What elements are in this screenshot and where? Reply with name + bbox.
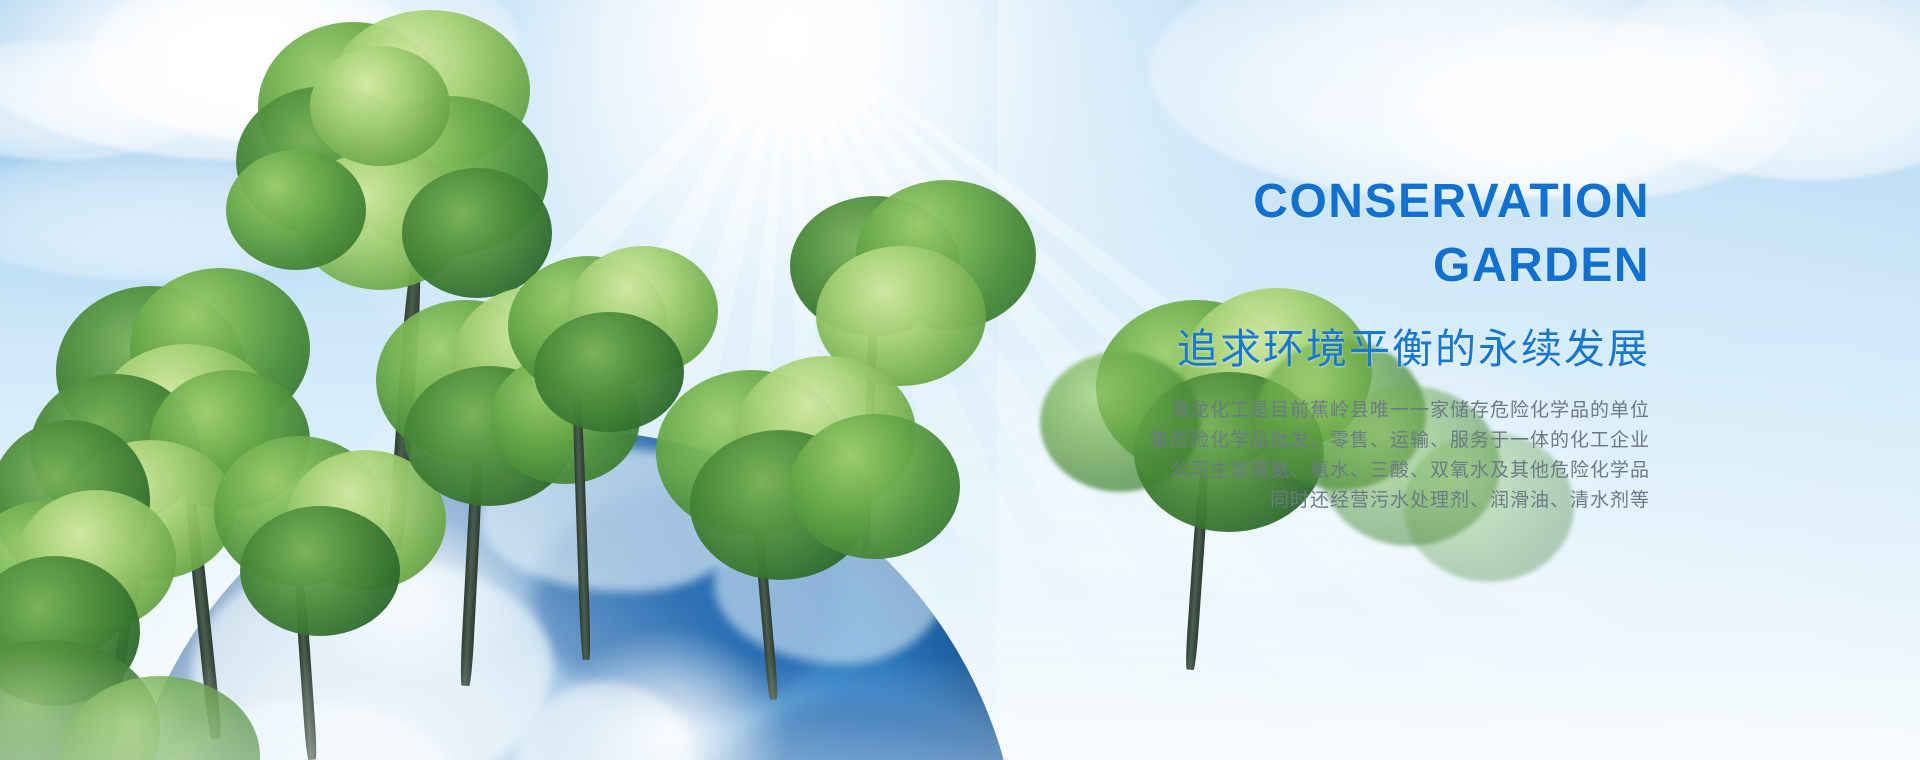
hero-banner: CONSERVATION GARDEN 追求环境平衡的永续发展 海龙化工是目前蕉… (0, 0, 1920, 760)
headline-line-2: GARDEN (1030, 234, 1650, 298)
headline-line-1: CONSERVATION (1253, 175, 1650, 228)
description-line: 海龙化工是目前蕉岭县唯一一家储存危险化学品的单位 (1030, 396, 1650, 426)
banner-description: 海龙化工是目前蕉岭县唯一一家储存危险化学品的单位 集危险化学品批发、零售、运输、… (1030, 396, 1650, 516)
description-line: 集危险化学品批发、零售、运输、服务于一体的化工企业 (1030, 426, 1650, 456)
description-line: 同时还经营污水处理剂、润滑油、清水剂等 (1030, 486, 1650, 516)
banner-headline: CONSERVATION GARDEN (1030, 170, 1650, 298)
sky-tint-left (0, 0, 883, 471)
banner-subheadline: 追求环境平衡的永续发展 (1030, 320, 1650, 378)
description-line: 公司主营液氨、氨水、三酸、双氧水及其他危险化学品 (1030, 456, 1650, 486)
banner-text-panel: CONSERVATION GARDEN 追求环境平衡的永续发展 海龙化工是目前蕉… (1030, 170, 1650, 516)
